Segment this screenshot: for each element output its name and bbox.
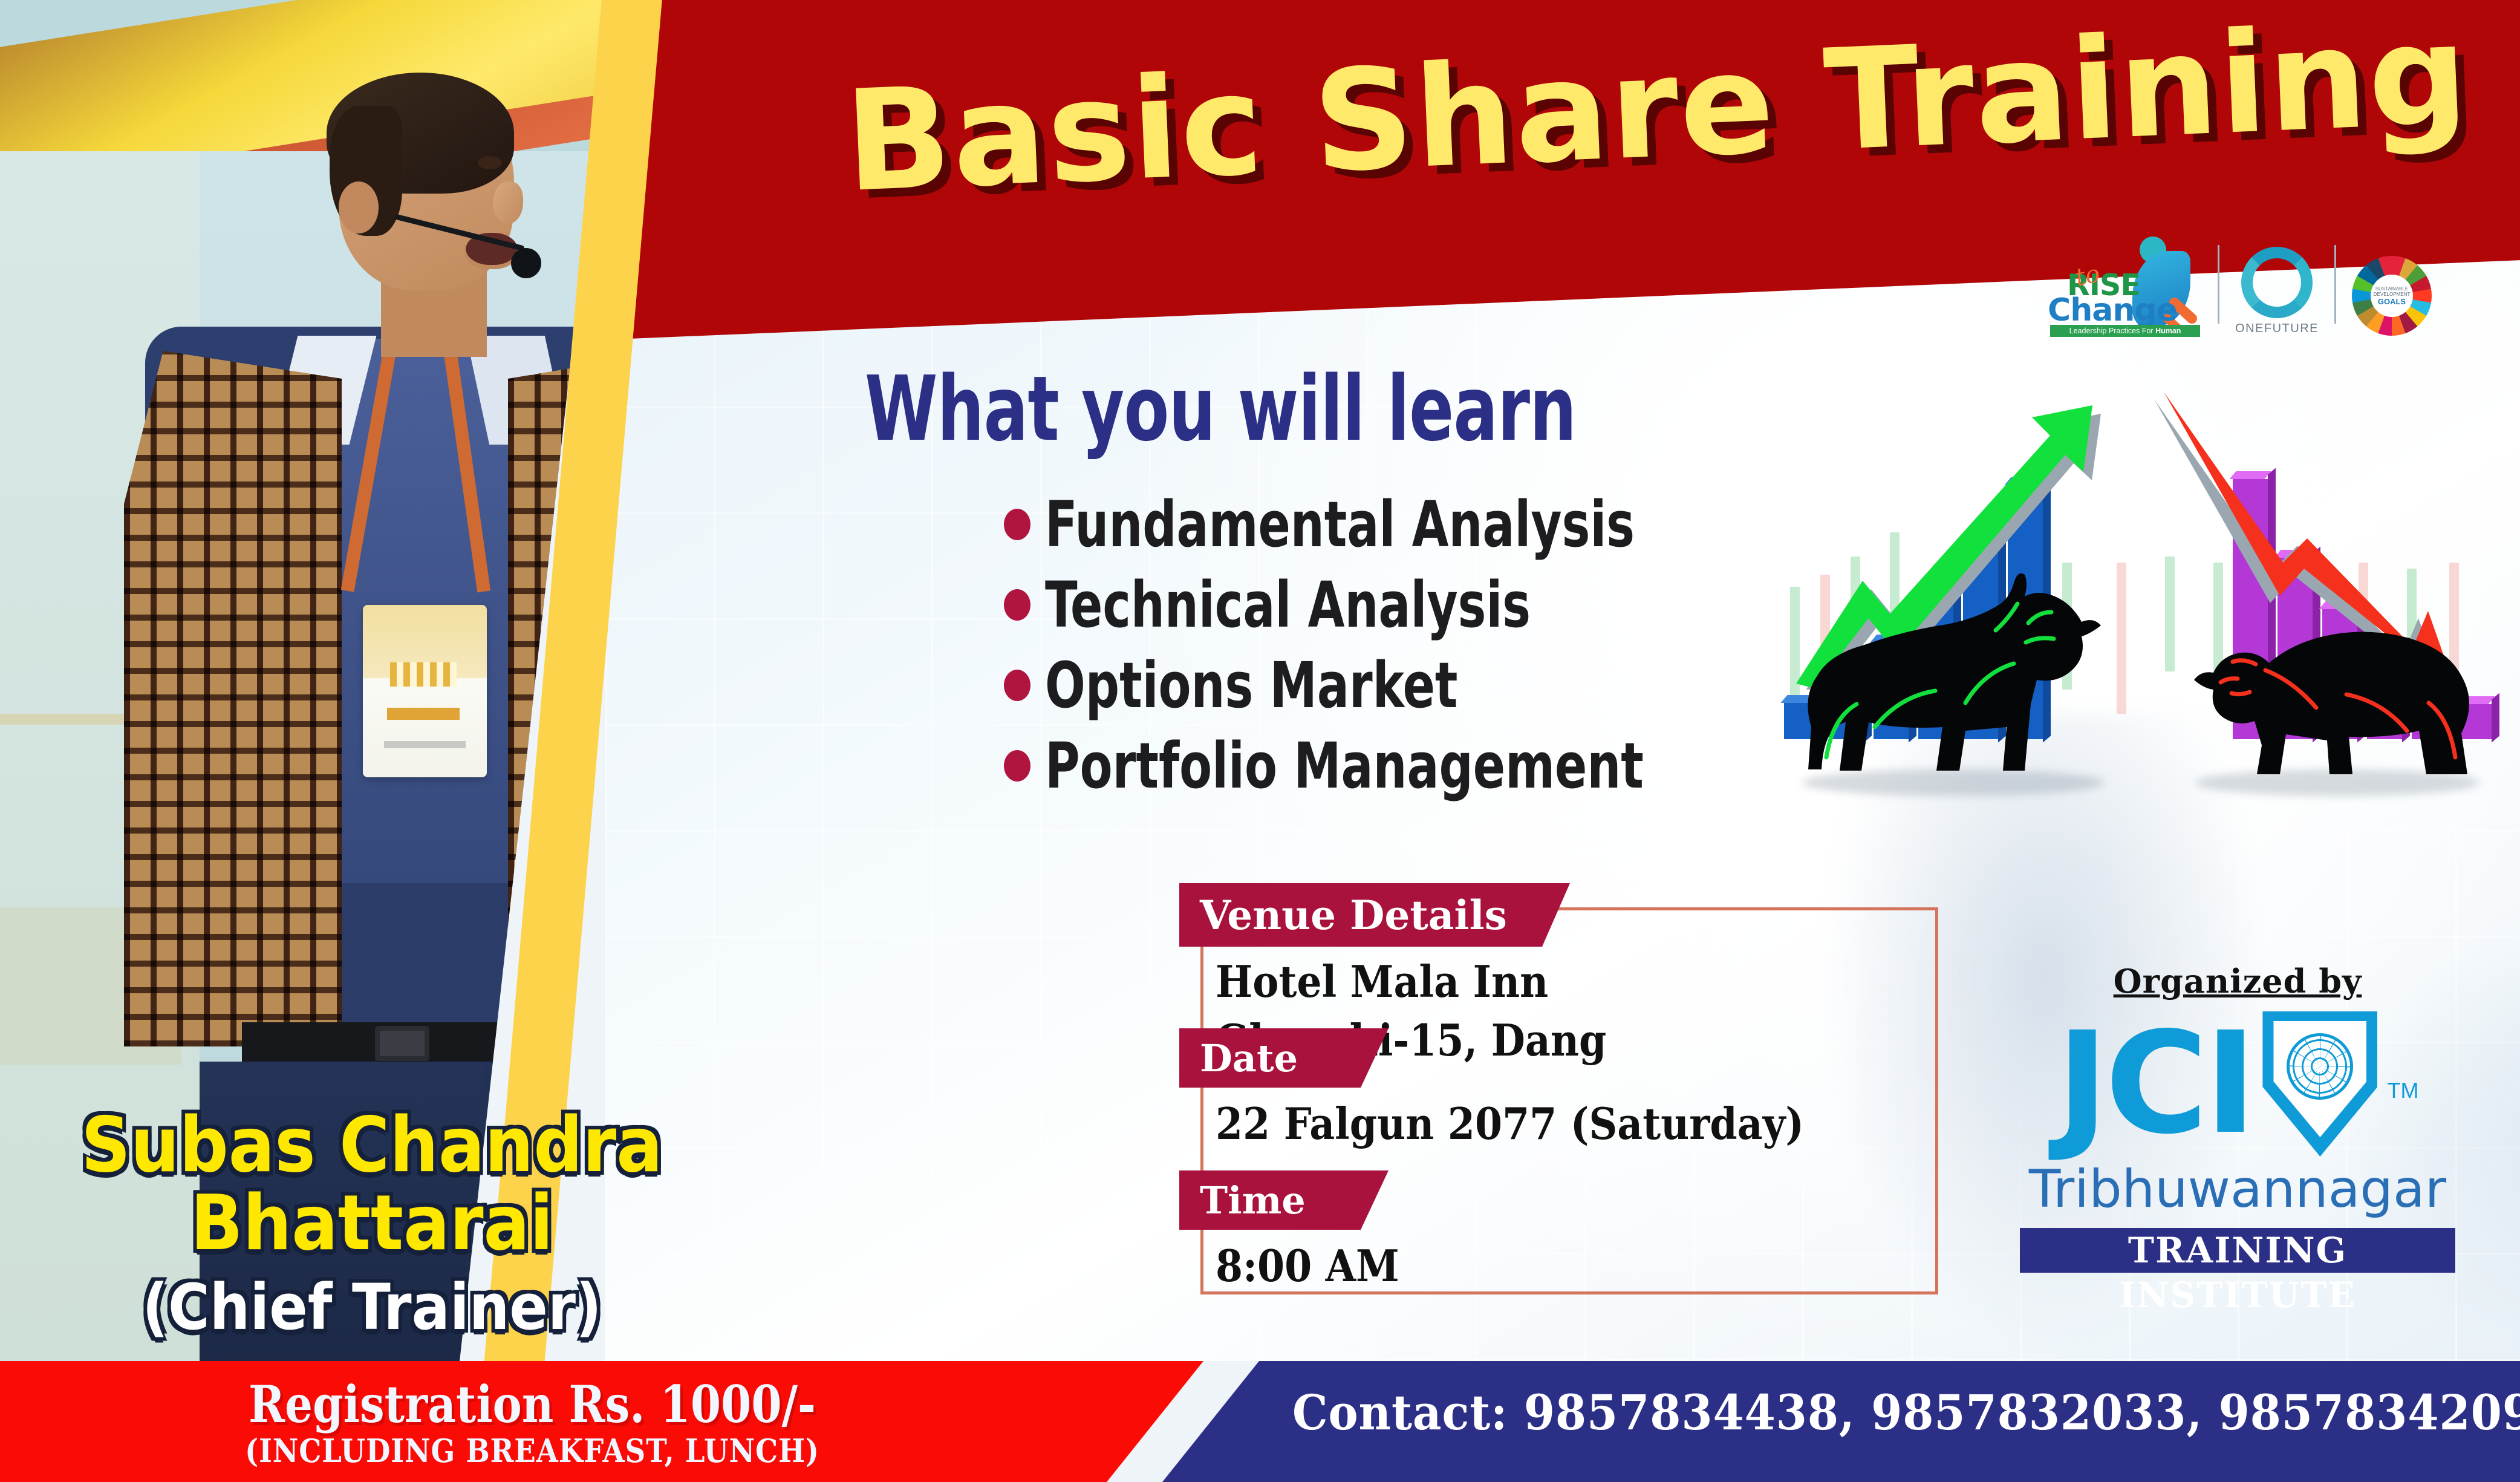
jci-globe-icon [2287, 1033, 2353, 1100]
list-item: Portfolio Management [1004, 725, 1911, 806]
person-eye [478, 156, 502, 169]
list-item: Options Market [1004, 645, 1911, 725]
jci-logo: JCI TM [1984, 1011, 2492, 1157]
rise-to-word: to [2073, 260, 2103, 292]
sdg-wheel-icon: SUSTAINABLE DEVELOPMENT GOALS [2352, 256, 2432, 336]
organizer-block: Organized by JCI TM Tribhuwannagar TRAIN… [1984, 962, 2492, 1273]
list-item-label: Portfolio Management [1045, 729, 1644, 803]
contact-numbers: Contact: 9857834438, 9857832033, 9857834… [1292, 1384, 2520, 1441]
speaker-role: (Chief Trainer) [0, 1270, 744, 1344]
date-value: 22 Falgun 2077 (Saturday) [1216, 1098, 1804, 1149]
list-item: Technical Analysis [1004, 564, 1911, 645]
partner-logos: RISE to Change Leadership Practices For … [2032, 233, 2447, 336]
belt-buckle [375, 1026, 429, 1061]
id-badge [363, 605, 487, 777]
person-nose [493, 181, 523, 224]
list-item: Fundamental Analysis [1004, 484, 1911, 564]
date-label-tag: Date [1179, 1028, 1361, 1088]
onefuture-logo: ONEFUTURE [2219, 233, 2334, 336]
onefuture-ring-icon [2241, 247, 2313, 318]
person-belt [242, 1022, 617, 1065]
venue-details-box: Venue Details Hotel Mala Inn Ghorahi-15,… [1200, 907, 1938, 1294]
jci-chapter-name: Tribhuwannagar [1984, 1159, 2492, 1219]
organized-by-label: Organized by [1984, 962, 2492, 1001]
id-badge-logo [390, 662, 457, 687]
list-item-label: Options Market [1045, 648, 1458, 722]
registration-note: (INCLUDING BREAKFAST, LUNCH) [64, 1432, 1001, 1470]
registration-bar: Registration Rs. 1000/- (INCLUDING BREAK… [0, 1361, 1270, 1482]
time-label-tag: Time [1179, 1170, 1361, 1230]
sdg-line-1: SUSTAINABLE [2375, 286, 2409, 292]
jci-shield-icon [2262, 1011, 2377, 1157]
training-institute-bar: TRAINING INSTITUTE [2020, 1228, 2455, 1273]
trademark-symbol: TM [2387, 1078, 2418, 1103]
person-hand [502, 992, 617, 1083]
time-value: 8:00 AM [1216, 1240, 1399, 1291]
section-heading: What you will learn [865, 357, 1576, 461]
venue-label-tag: Venue Details [1179, 883, 1542, 947]
poster-canvas: Basic Share Training RISE to Change Lead… [0, 0, 2520, 1482]
rise-to-change-logo: RISE to Change Leadership Practices For … [2032, 233, 2218, 336]
bullet-dot-icon [1004, 670, 1030, 701]
venue-place-line-1: Hotel Mala Inn [1216, 956, 1548, 1007]
speaker-name-block: Subas Chandra Bhattarai (Chief Trainer) [0, 1107, 744, 1344]
id-badge-text-line [384, 741, 466, 748]
sdg-line-3: GOALS [2378, 297, 2406, 306]
onefuture-label: ONEFUTURE [2235, 322, 2319, 336]
bullet-dot-icon [1004, 589, 1030, 621]
speaker-name-line-2: Bhattarai [0, 1183, 744, 1263]
blazer-left-panel [124, 351, 342, 1046]
speaker-name-line-1: Subas Chandra [0, 1107, 744, 1183]
learning-topics-list: Fundamental Analysis Technical Analysis … [1004, 484, 1911, 806]
bullet-dot-icon [1004, 509, 1030, 540]
bullet-dot-icon [1004, 750, 1030, 782]
rise-change-word: Change [2048, 292, 2177, 328]
rise-tagline: Leadership Practices For Human Developme… [2050, 325, 2200, 337]
registration-fee: Registration Rs. 1000/- [74, 1374, 990, 1434]
contact-bar: Contact: 9857834438, 9857832033, 9857834… [1159, 1361, 2520, 1482]
bear-silhouette [2165, 552, 2492, 788]
id-badge-bar [387, 708, 460, 720]
sdg-wheel-center: SUSTAINABLE DEVELOPMENT GOALS [2371, 275, 2413, 317]
person-ear [339, 181, 379, 233]
jci-wordmark: JCI [2057, 1028, 2253, 1140]
headset-mic-capsule [511, 248, 541, 278]
list-item-label: Fundamental Analysis [1045, 488, 1635, 561]
list-item-label: Technical Analysis [1045, 568, 1531, 642]
sdg-wheel-logo: SUSTAINABLE DEVELOPMENT GOALS [2336, 233, 2447, 336]
sdg-line-2: DEVELOPMENT [2374, 292, 2410, 297]
rise-tagline-plain: Leadership Practices For [2069, 327, 2155, 335]
